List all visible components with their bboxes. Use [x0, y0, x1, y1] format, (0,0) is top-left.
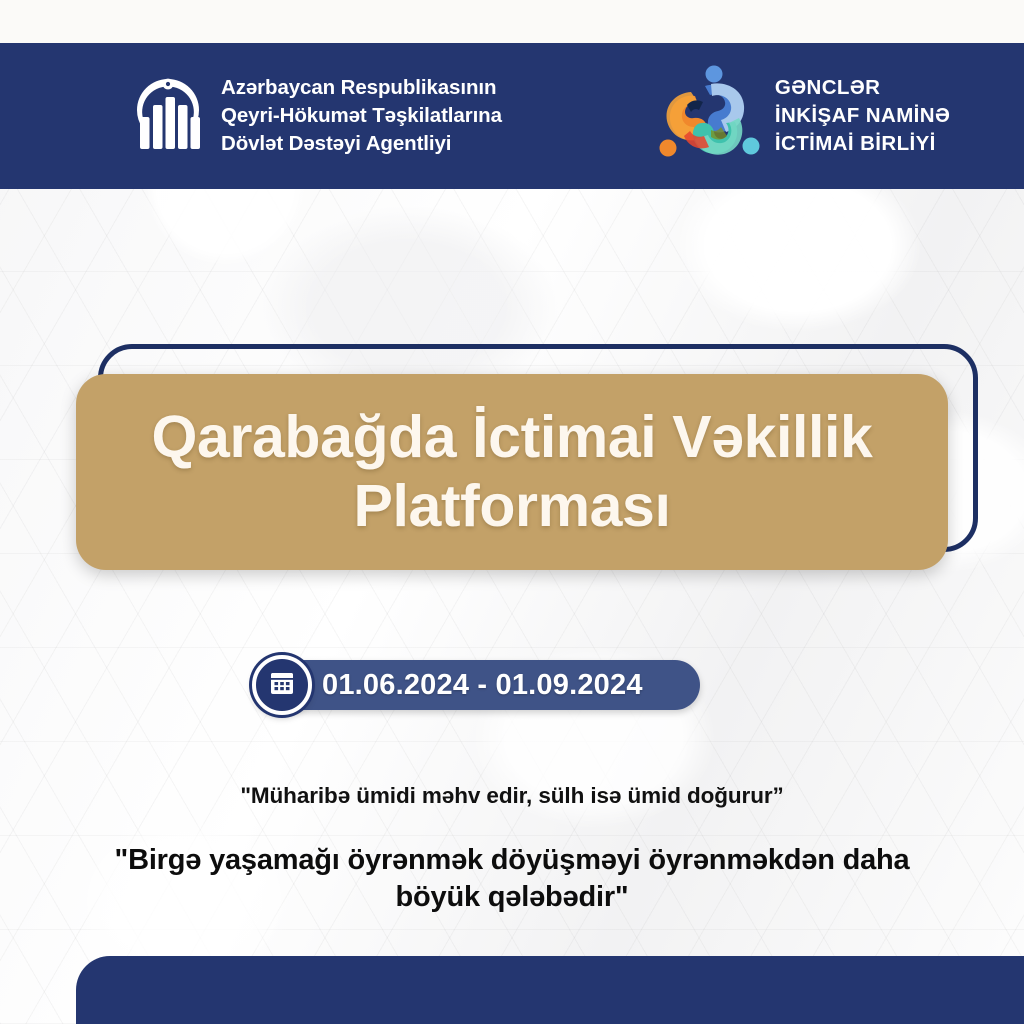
date-badge: 01.06.2024 - 01.09.2024: [252, 660, 700, 710]
date-range-label: 01.06.2024 - 01.09.2024: [322, 660, 643, 710]
partner-logo-text: GƏNCLƏR İNKİŞAF NAMİNƏ İCTİMAİ BİRLİYİ: [775, 74, 950, 159]
agency-logo-block: Azərbaycan Respublikasının Qeyri-Hökumət…: [131, 73, 502, 160]
partner-line-3: İCTİMAİ BİRLİYİ: [775, 130, 950, 158]
calendar-icon: [268, 669, 296, 702]
page-title: Qarabağda İctimai Vəkillik Platforması: [76, 403, 948, 541]
header-band: Azərbaycan Respublikasının Qeyri-Hökumət…: [0, 43, 1024, 189]
partner-line-2: İNKİŞAF NAMİNƏ: [775, 102, 950, 130]
bottom-navy-panel: [76, 956, 1024, 1024]
agency-line-2: Qeyri-Hökumət Təşkilatlarına: [221, 102, 502, 130]
agency-logo-text: Azərbaycan Respublikasının Qeyri-Hökumət…: [221, 74, 502, 159]
agency-line-1: Azərbaycan Respublikasının: [221, 74, 502, 102]
agency-line-3: Dövlət Dəstəyi Agentliyi: [221, 130, 502, 158]
title-card: Qarabağda İctimai Vəkillik Platforması: [76, 374, 948, 570]
poster-canvas: Azərbaycan Respublikasının Qeyri-Hökumət…: [0, 0, 1024, 1024]
partner-line-1: GƏNCLƏR: [775, 74, 950, 102]
quote-secondary: "Birgə yaşamağı öyrənmək döyüşməyi öyrən…: [0, 842, 1024, 916]
calendar-icon-circle: [252, 655, 312, 715]
partner-logo-block: GƏNCLƏR İNKİŞAF NAMİNƏ İCTİMAİ BİRLİYİ: [651, 62, 950, 171]
azerbaijan-ngo-agency-logo-icon: [131, 73, 205, 160]
quote-primary: "Müharibə ümidi məhv edir, sülh isə ümid…: [0, 783, 1024, 809]
top-white-strip: [0, 0, 1024, 43]
gencler-inkisaf-naminə-logo-icon: [651, 62, 763, 171]
